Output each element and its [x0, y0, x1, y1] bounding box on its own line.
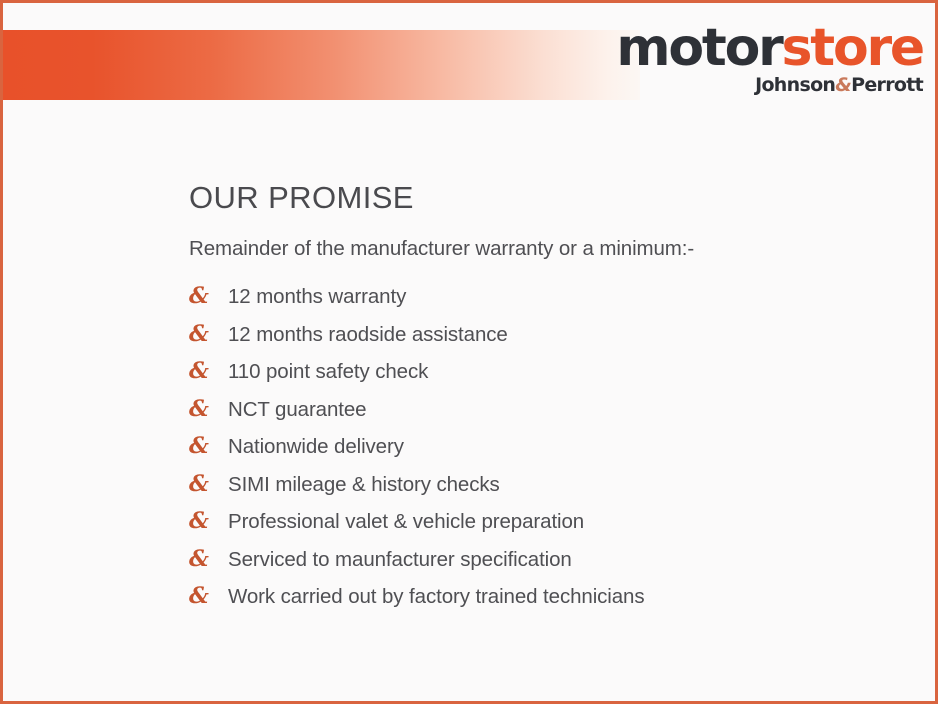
- ampersand-bullet-icon: &: [189, 435, 228, 457]
- list-item: & 12 months raodside assistance: [189, 323, 909, 361]
- list-item-label: 12 months raodside assistance: [228, 323, 508, 347]
- list-item: & NCT guarantee: [189, 398, 909, 436]
- logo-sub-johnson: Johnson: [755, 74, 835, 96]
- list-item-label: Nationwide delivery: [228, 435, 404, 459]
- list-item: & Work carried out by factory trained te…: [189, 585, 909, 623]
- header-banner: motorstore Johnson&Perrott: [3, 3, 938, 107]
- list-item-label: SIMI mileage & history checks: [228, 473, 500, 497]
- ampersand-icon: &: [835, 74, 851, 96]
- list-item-label: 110 point safety check: [228, 360, 428, 384]
- page-title: OUR PROMISE: [189, 181, 909, 215]
- list-item-label: Work carried out by factory trained tech…: [228, 585, 645, 609]
- list-item: & Nationwide delivery: [189, 435, 909, 473]
- ampersand-bullet-icon: &: [189, 510, 228, 532]
- ampersand-bullet-icon: &: [189, 585, 228, 607]
- promise-subtitle: Remainder of the manufacturer warranty o…: [189, 237, 909, 261]
- ampersand-bullet-icon: &: [189, 285, 228, 307]
- list-item: & 110 point safety check: [189, 360, 909, 398]
- logo-sub-perrott: Perrott: [851, 74, 923, 96]
- logo-word-store: store: [782, 18, 923, 78]
- ampersand-bullet-icon: &: [189, 548, 228, 570]
- list-item-label: 12 months warranty: [228, 285, 406, 309]
- list-item-label: Serviced to maunfacturer specification: [228, 548, 572, 572]
- ampersand-bullet-icon: &: [189, 360, 228, 382]
- list-item-label: NCT guarantee: [228, 398, 367, 422]
- orange-gradient-band: [3, 30, 640, 100]
- motorstore-logo: motorstore Johnson&Perrott: [616, 23, 923, 95]
- ampersand-bullet-icon: &: [189, 323, 228, 345]
- promise-list: & 12 months warranty & 12 months raodsid…: [189, 285, 909, 623]
- list-item-label: Professional valet & vehicle preparation: [228, 510, 584, 534]
- promise-content: OUR PROMISE Remainder of the manufacture…: [189, 181, 909, 623]
- logo-word-motor: motor: [616, 18, 781, 78]
- ampersand-bullet-icon: &: [189, 473, 228, 495]
- list-item: & Professional valet & vehicle preparati…: [189, 510, 909, 548]
- logo-wordmark: motorstore: [616, 23, 923, 73]
- list-item: & SIMI mileage & history checks: [189, 473, 909, 511]
- ampersand-bullet-icon: &: [189, 398, 228, 420]
- list-item: & Serviced to maunfacturer specification: [189, 548, 909, 586]
- list-item: & 12 months warranty: [189, 285, 909, 323]
- promise-slide: motorstore Johnson&Perrott OUR PROMISE R…: [0, 0, 938, 704]
- logo-subtitle-johnson-perrott: Johnson&Perrott: [616, 76, 923, 95]
